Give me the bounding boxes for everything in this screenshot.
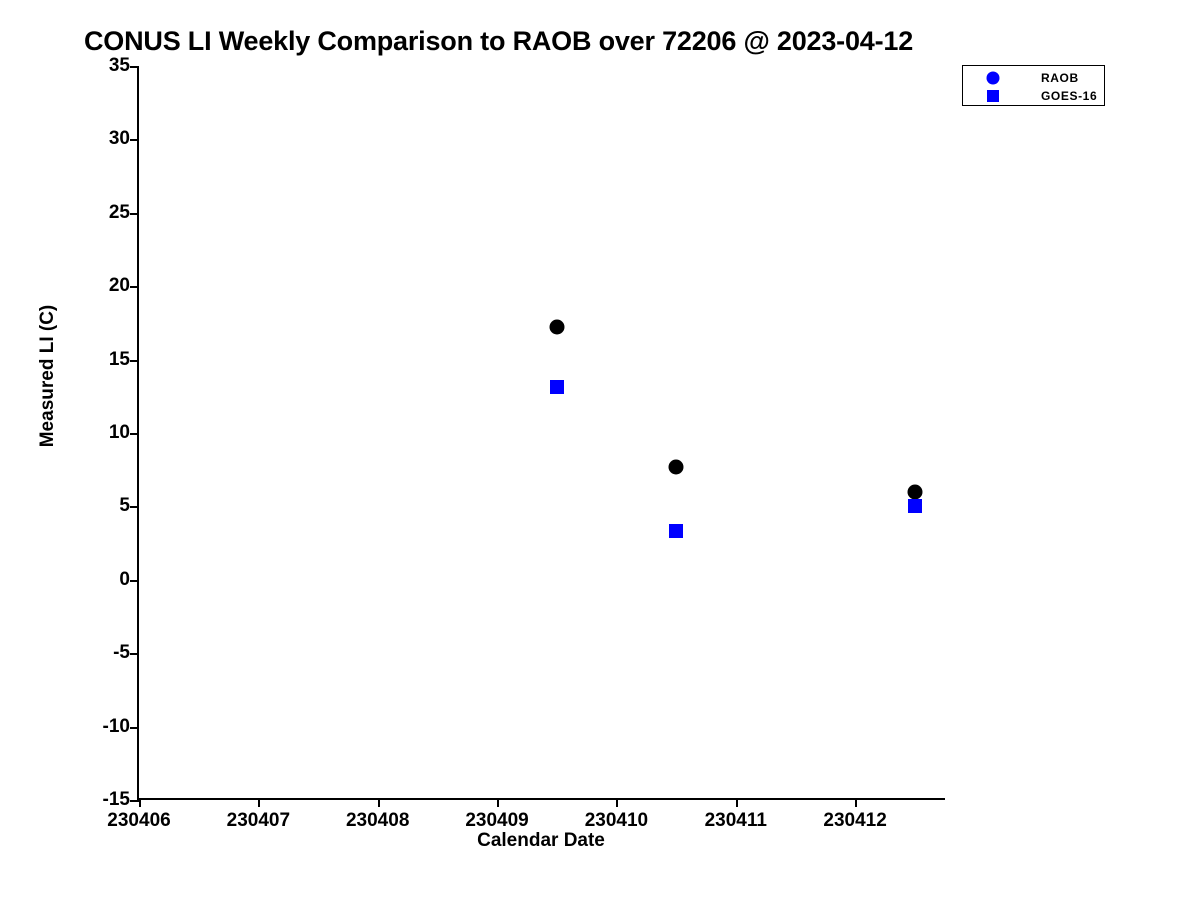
y-tick-mark <box>130 360 139 362</box>
y-tick-mark <box>130 727 139 729</box>
x-tick-label: 230408 <box>346 810 409 832</box>
y-tick-mark <box>130 800 139 802</box>
y-tick-label: -5 <box>113 642 130 664</box>
legend-item-goes-16[interactable]: GOES-16 <box>963 87 1104 105</box>
data-point-goes-16 <box>550 380 564 394</box>
x-axis-title: Calendar Date <box>137 830 945 852</box>
x-tick-mark <box>736 798 738 807</box>
y-tick-label: 20 <box>109 275 130 297</box>
y-tick-label: 15 <box>109 349 130 371</box>
y-axis-title: Measured LI (C) <box>37 276 59 476</box>
data-point-goes-16 <box>669 524 683 538</box>
legend-label: RAOB <box>1041 71 1079 85</box>
y-tick-mark <box>130 433 139 435</box>
y-tick-mark <box>130 66 139 68</box>
chart-figure: CONUS LI Weekly Comparison to RAOB over … <box>0 0 1200 900</box>
chart-title: CONUS LI Weekly Comparison to RAOB over … <box>84 26 1084 57</box>
x-tick-mark <box>258 798 260 807</box>
x-tick-label: 230410 <box>585 810 648 832</box>
x-tick-mark <box>855 798 857 807</box>
y-tick-label: -15 <box>103 789 130 811</box>
y-tick-label: -10 <box>103 716 130 738</box>
y-tick-label: 0 <box>119 569 130 591</box>
data-point-raob <box>549 320 564 335</box>
x-tick-label: 230407 <box>227 810 290 832</box>
x-tick-label: 230409 <box>465 810 528 832</box>
plot-area: 35302520151050-5-10-15 23040623040723040… <box>137 66 945 800</box>
data-point-goes-16 <box>908 499 922 513</box>
y-tick-mark <box>130 286 139 288</box>
y-tick-mark <box>130 580 139 582</box>
x-tick-mark <box>378 798 380 807</box>
chart-legend: RAOBGOES-16 <box>962 65 1105 106</box>
y-tick-mark <box>130 213 139 215</box>
data-point-raob <box>669 459 684 474</box>
x-tick-mark <box>497 798 499 807</box>
legend-circle-icon <box>987 72 1000 85</box>
y-tick-label: 5 <box>119 495 130 517</box>
y-tick-mark <box>130 506 139 508</box>
x-tick-label: 230406 <box>107 810 170 832</box>
legend-label: GOES-16 <box>1041 89 1097 103</box>
y-tick-label: 35 <box>109 55 130 77</box>
x-tick-mark <box>139 798 141 807</box>
x-tick-label: 230412 <box>823 810 886 832</box>
x-tick-mark <box>616 798 618 807</box>
y-tick-label: 25 <box>109 202 130 224</box>
y-tick-label: 10 <box>109 422 130 444</box>
data-point-raob <box>907 484 922 499</box>
y-tick-label: 30 <box>109 128 130 150</box>
legend-item-raob[interactable]: RAOB <box>963 69 1104 87</box>
legend-square-icon <box>987 90 999 102</box>
x-tick-label: 230411 <box>705 810 767 832</box>
y-tick-mark <box>130 139 139 141</box>
y-tick-mark <box>130 653 139 655</box>
